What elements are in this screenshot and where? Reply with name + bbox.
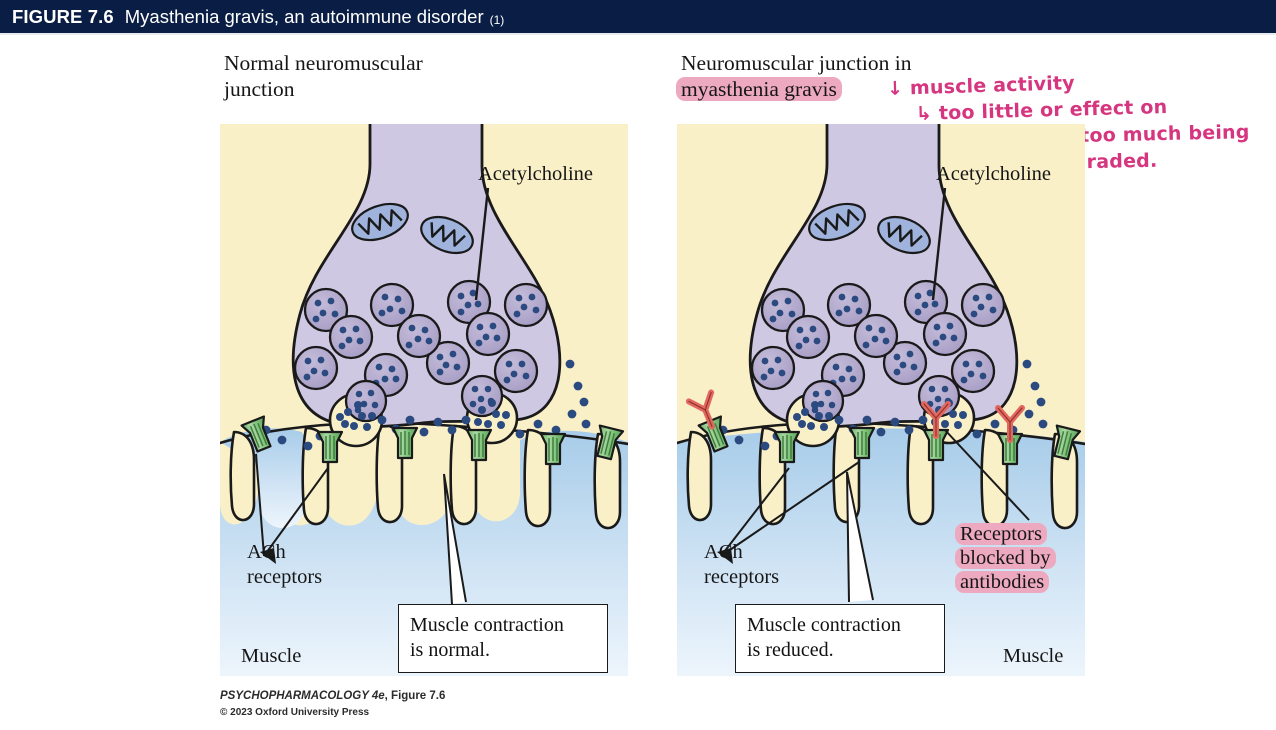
right-label-muscle: Muscle xyxy=(1003,644,1063,669)
figure-title: Myasthenia gravis, an autoimmune disorde… xyxy=(125,6,484,28)
left-label-acetylcholine: Acetylcholine xyxy=(478,162,593,187)
right-label-receptors-blocked: Receptors blocked by antibodies xyxy=(960,522,1056,594)
left-panel-title-line2: junction xyxy=(224,77,294,101)
left-callout-line1: Muscle contraction xyxy=(410,614,564,636)
source-figure-ref: , Figure 7.6 xyxy=(385,690,446,702)
left-label-ach-receptors-line1: ACh xyxy=(247,541,286,563)
left-callout-muscle-contraction: Muscle contraction is normal. xyxy=(398,604,608,673)
figure-title-suffix: (1) xyxy=(490,13,505,27)
figure-number: FIGURE 7.6 xyxy=(12,6,114,28)
blocked-line3: antibodies xyxy=(955,571,1049,593)
right-callout-line1: Muscle contraction xyxy=(747,614,901,636)
right-label-acetylcholine: Acetylcholine xyxy=(936,162,1051,187)
right-callout-muscle-contraction: Muscle contraction is reduced. xyxy=(735,604,945,673)
right-panel-title-line2-highlighted: myasthenia gravis xyxy=(676,77,842,101)
right-label-ach-receptors-line2: receptors xyxy=(704,566,779,588)
handwritten-note-line-1: ↓ muscle activity xyxy=(887,72,1075,100)
source-credit-line-2: © 2023 Oxford University Press xyxy=(220,707,369,718)
header-bar: FIGURE 7.6 Myasthenia gravis, an autoimm… xyxy=(0,0,1276,33)
right-callout-line2: is reduced. xyxy=(747,639,834,661)
right-label-ach-receptors-line1: ACh xyxy=(704,541,743,563)
left-label-ach-receptors: ACh receptors xyxy=(247,540,322,590)
right-panel-title-line1: Neuromuscular junction in xyxy=(681,51,911,75)
figure-slide: FIGURE 7.6 Myasthenia gravis, an autoimm… xyxy=(0,0,1276,730)
left-panel-title-line1: Normal neuromuscular xyxy=(224,51,423,75)
left-panel-diagram xyxy=(220,124,628,676)
left-label-ach-receptors-line2: receptors xyxy=(247,566,322,588)
source-credit-line-1: PSYCHOPHARMACOLOGY 4e, Figure 7.6 xyxy=(220,690,445,702)
left-panel-title: Normal neuromuscular junction xyxy=(224,50,524,102)
source-book-title: PSYCHOPHARMACOLOGY 4e xyxy=(220,690,385,702)
blocked-line2: blocked by xyxy=(955,547,1056,569)
right-label-ach-receptors: ACh receptors xyxy=(704,540,779,590)
header-divider xyxy=(0,33,1276,35)
blocked-line1: Receptors xyxy=(955,523,1047,545)
left-label-muscle: Muscle xyxy=(241,644,301,669)
left-callout-line2: is normal. xyxy=(410,639,490,661)
